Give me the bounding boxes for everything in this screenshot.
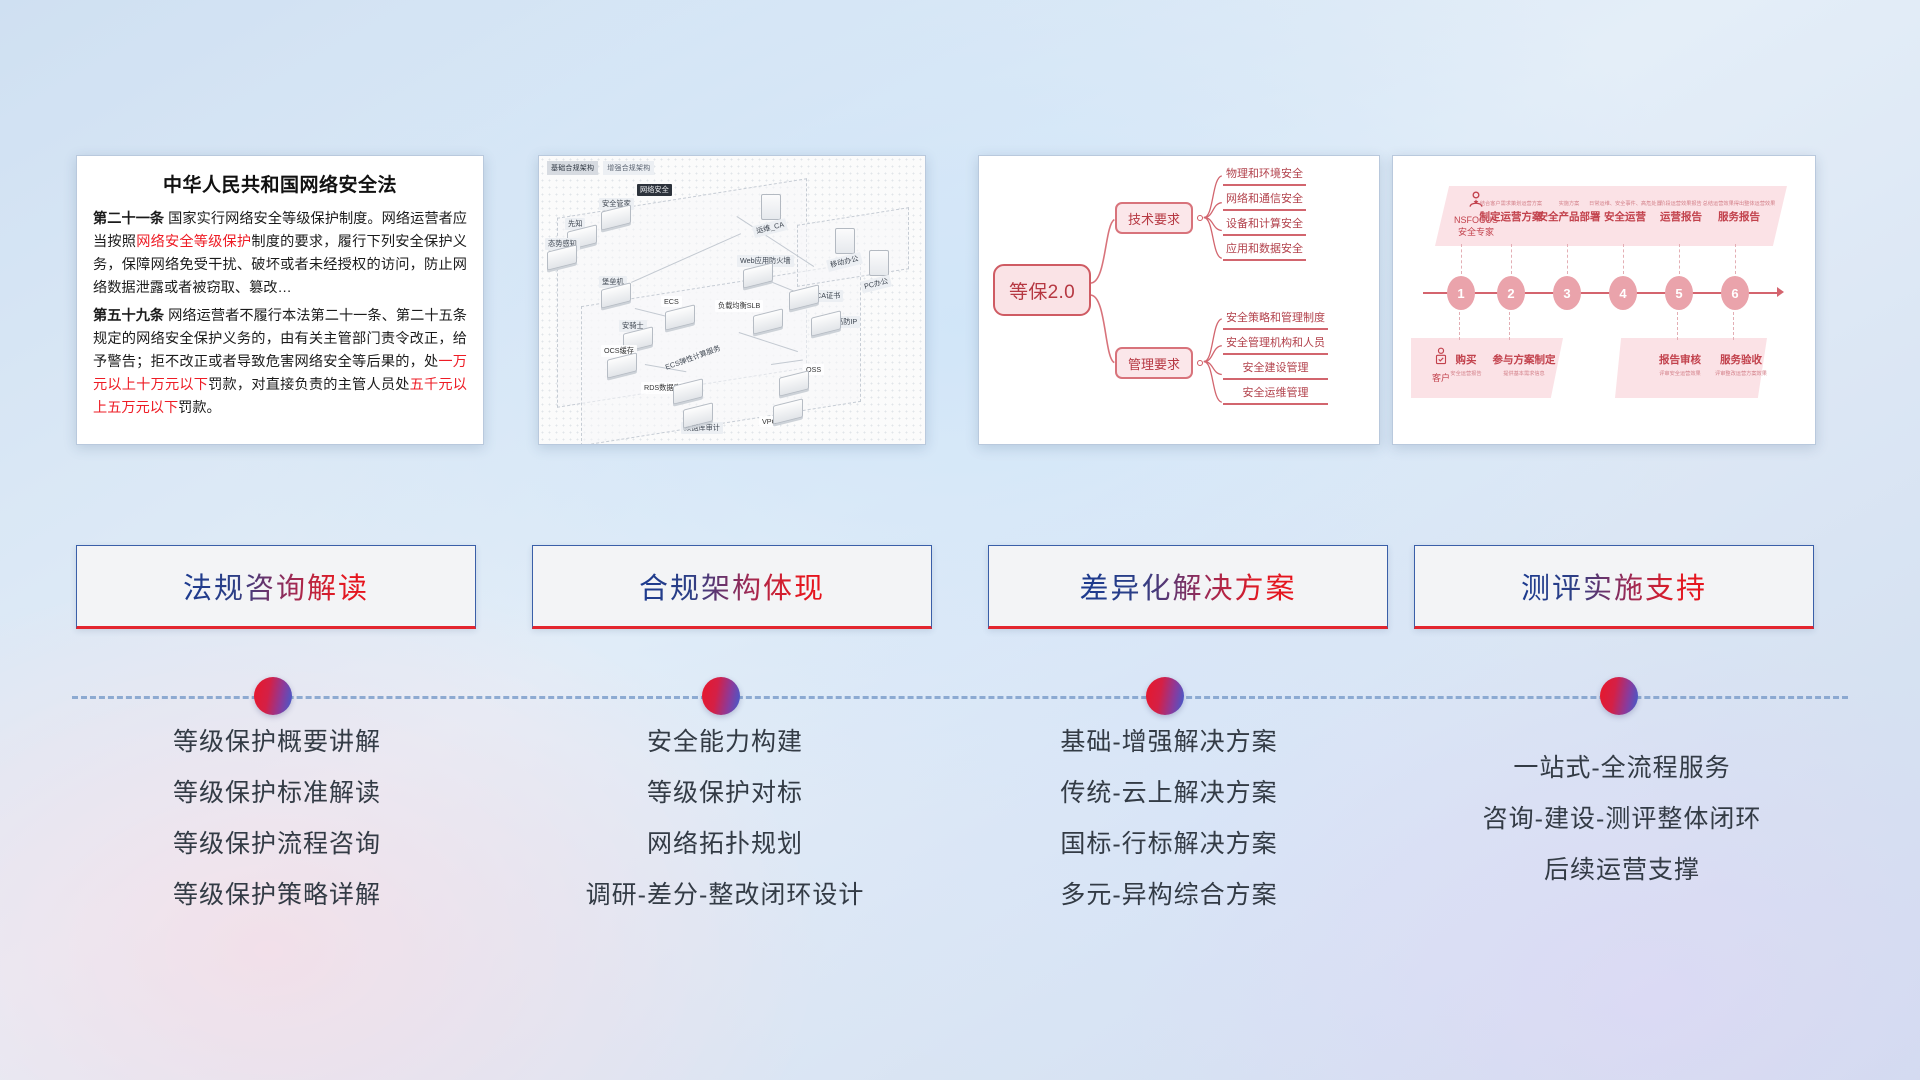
list-item: 等级保护对标 xyxy=(500,781,950,806)
timeline-marker-4[interactable] xyxy=(1600,677,1638,715)
timeline-step-bottom-3: 报告审核 评审安全运营效果 xyxy=(1647,352,1713,379)
list-item: 多元-异构综合方案 xyxy=(944,883,1394,908)
title-button-compliance-architecture[interactable]: 合规架构体现 xyxy=(532,545,932,629)
list-item: 咨询-建设-测评整体闭环 xyxy=(1392,807,1852,832)
expand-dot-icon[interactable] xyxy=(1197,215,1203,221)
node-db-audit: 数据库审计 xyxy=(683,406,713,425)
mindmap-leaf: 物理和环境安全 xyxy=(1223,164,1306,186)
timeline-arrow-icon xyxy=(1777,287,1784,297)
detail-column-2: 安全能力构建 等级保护对标 网络拓扑规划 调研-差分-整改闭环设计 xyxy=(500,730,950,934)
connector-line xyxy=(1459,312,1460,340)
step-title: 报告审核 xyxy=(1647,352,1713,367)
law-title: 中华人民共和国网络安全法 xyxy=(93,170,467,197)
list-item: 后续运营支撑 xyxy=(1392,858,1852,883)
timeline-node-4[interactable]: 4 xyxy=(1609,276,1637,310)
node-vpc: VPC xyxy=(773,402,803,421)
timeline-connector-row xyxy=(0,668,1920,728)
tab-enhanced-compliance[interactable]: 增强合规架构 xyxy=(603,161,654,175)
title-button-regulation-consulting[interactable]: 法规咨询解读 xyxy=(76,545,476,629)
node-ca-certificate: CA证书 xyxy=(789,288,819,307)
connector-line xyxy=(1461,244,1462,274)
node-ops-ca: 运维_CA xyxy=(761,194,781,220)
title-button-differentiated-solution[interactable]: 差异化解决方案 xyxy=(988,545,1388,629)
cube-icon xyxy=(779,370,809,396)
title-button-assessment-support[interactable]: 测评实施支持 xyxy=(1414,545,1814,629)
title-label: 测评实施支持 xyxy=(1521,565,1707,607)
title-button-row: 法规咨询解读 合规架构体现 差异化解决方案 测评实施支持 xyxy=(0,545,1920,645)
server-icon xyxy=(869,250,889,276)
connector-line xyxy=(1509,312,1510,340)
article-59-text-b: 罚款，对直接负责的主管人员处 xyxy=(208,377,409,393)
mindmap-root: 等保2.0 xyxy=(993,264,1091,316)
mindmap-leaf: 安全管理机构和人员 xyxy=(1223,333,1328,355)
title-label: 法规咨询解读 xyxy=(183,565,369,607)
mindmap-leaf: 应用和数据安全 xyxy=(1223,239,1306,261)
connector-line xyxy=(1733,312,1734,340)
timeline-node-6[interactable]: 6 xyxy=(1721,276,1749,310)
node-security-manager: 安全管家 xyxy=(601,208,631,227)
node-situation-awareness: 态势感知 xyxy=(547,248,577,267)
nsfocus-process-diagram: NSFOCUS 安全专家 客户 1 2 3 xyxy=(1393,156,1815,444)
dashed-timeline-line xyxy=(72,696,1848,699)
mindmap-branch-management[interactable]: 管理要求 xyxy=(1115,347,1193,379)
article-59-text-c: 罚款。 xyxy=(178,400,221,416)
timeline-marker-3[interactable] xyxy=(1146,677,1184,715)
timeline-step-top-6: 总结运营效果得出整体运营效果 服务报告 xyxy=(1701,200,1777,224)
node-ocs-cache: OCS缓存 xyxy=(607,356,637,375)
mindmap: 等保2.0 技术要求 物理和环境安全 网络和通信安全 设备和计算安全 应用和数据… xyxy=(979,156,1379,444)
node-mobile-office: 移动办公 xyxy=(835,228,855,254)
timeline-marker-1[interactable] xyxy=(254,677,292,715)
node-slb: 负载均衡SLB xyxy=(753,312,783,331)
list-item: 安全能力构建 xyxy=(500,730,950,755)
connector-line xyxy=(1623,244,1624,274)
node-bastion-host: 堡垒机 xyxy=(601,286,631,305)
mindmap-leaves-management: 安全策略和管理制度 安全管理机构和人员 安全建设管理 安全运维管理 xyxy=(1223,308,1328,408)
step-title: 服务报告 xyxy=(1701,209,1777,224)
list-item: 等级保护标准解读 xyxy=(52,781,502,806)
step-subtitle: 评审整改运营方案效果 xyxy=(1705,370,1777,377)
law-document: 中华人民共和国网络安全法 第二十一条 国家实行网络安全等级保护制度。网络运营者应… xyxy=(77,156,483,435)
node-ecs: ECS xyxy=(665,308,695,327)
step-subtitle: 提供基本需求信息 xyxy=(1485,370,1563,377)
timeline-step-bottom-4: 服务验收 评审整改运营方案效果 xyxy=(1705,352,1777,379)
node-waf: Web应用防火墙 xyxy=(743,266,773,285)
timeline-step-bottom-2: 参与方案制定 提供基本需求信息 xyxy=(1485,352,1563,379)
expand-dot-icon[interactable] xyxy=(1197,360,1203,366)
architecture-diagram: 基础合规架构 增强合规架构 网络安全 安全管家 xyxy=(539,156,925,444)
connector-line xyxy=(1679,244,1680,274)
detail-column-4: 一站式-全流程服务 咨询-建设-测评整体闭环 后续运营支撑 xyxy=(1392,730,1852,909)
list-item: 传统-云上解决方案 xyxy=(944,781,1394,806)
law-article-21: 第二十一条 国家实行网络安全等级保护制度。网络运营者应当按照网络安全等级保护制度… xyxy=(93,208,467,300)
expert-role: 安全专家 xyxy=(1445,225,1507,238)
detail-column-1: 等级保护概要讲解 等级保护标准解读 等级保护流程咨询 等级保护策略详解 xyxy=(52,730,502,934)
list-item: 基础-增强解决方案 xyxy=(944,730,1394,755)
node-label-network-security: 网络安全 xyxy=(637,184,672,196)
server-icon xyxy=(761,194,781,220)
server-icon xyxy=(835,228,855,254)
article-59-label: 第五十九条 xyxy=(93,308,164,324)
mindmap-leaf: 网络和通信安全 xyxy=(1223,189,1306,211)
architecture-tabs: 基础合规架构 增强合规架构 xyxy=(547,161,654,175)
node-anti-ddos-ip: 高防IP xyxy=(811,314,841,333)
mindmap-leaf: 设备和计算安全 xyxy=(1223,214,1306,236)
mindmap-leaf: 安全运维管理 xyxy=(1223,383,1328,405)
timeline-node-2[interactable]: 2 xyxy=(1497,276,1525,310)
mindmap-leaves-technical: 物理和环境安全 网络和通信安全 设备和计算安全 应用和数据安全 xyxy=(1223,164,1306,264)
detail-column-row: 等级保护概要讲解 等级保护标准解读 等级保护流程咨询 等级保护策略详解 安全能力… xyxy=(0,730,1920,1060)
article-21-label: 第二十一条 xyxy=(93,211,164,227)
list-item: 等级保护概要讲解 xyxy=(52,730,502,755)
card-nsfocus-timeline[interactable]: NSFOCUS 安全专家 客户 1 2 3 xyxy=(1392,155,1816,445)
mindmap-leaf: 安全建设管理 xyxy=(1223,358,1328,380)
image-card-row: 中华人民共和国网络安全法 第二十一条 国家实行网络安全等级保护制度。网络运营者应… xyxy=(0,0,1920,470)
cube-icon xyxy=(773,398,803,424)
step-subtitle: 评审安全运营效果 xyxy=(1647,370,1713,377)
detail-column-3: 基础-增强解决方案 传统-云上解决方案 国标-行标解决方案 多元-异构综合方案 xyxy=(944,730,1394,934)
step-subtitle: 安全运营报告 xyxy=(1441,370,1491,377)
timeline-marker-2[interactable] xyxy=(702,677,740,715)
node-rds-database: RDS数据库 xyxy=(673,382,703,401)
law-article-59: 第五十九条 网络运营者不履行本法第二十一条、第二十五条规定的网络安全保护义务的，… xyxy=(93,305,467,420)
card-compliance-architecture[interactable]: 基础合规架构 增强合规架构 网络安全 安全管家 xyxy=(538,155,926,445)
list-item: 等级保护策略详解 xyxy=(52,883,502,908)
tab-basic-compliance[interactable]: 基础合规架构 xyxy=(547,161,598,175)
timeline-node-3[interactable]: 3 xyxy=(1553,276,1581,310)
timeline-step-bottom-1: 购买 安全运营报告 xyxy=(1441,352,1491,379)
slide-root: 中华人民共和国网络安全法 第二十一条 国家实行网络安全等级保护制度。网络运营者应… xyxy=(0,0,1920,1080)
title-label: 合规架构体现 xyxy=(639,565,825,607)
list-item: 一站式-全流程服务 xyxy=(1392,756,1852,781)
node-oss: OSS xyxy=(779,374,809,393)
node-pc-office: PC办公 xyxy=(869,250,889,276)
cube-icon xyxy=(811,310,841,336)
card-mlps-mindmap[interactable]: 等保2.0 技术要求 物理和环境安全 网络和通信安全 设备和计算安全 应用和数据… xyxy=(978,155,1380,445)
list-item: 网络拓扑规划 xyxy=(500,832,950,857)
list-item: 国标-行标解决方案 xyxy=(944,832,1394,857)
step-subtitle: 总结运营效果得出整体运营效果 xyxy=(1701,200,1777,207)
article-21-highlight: 网络安全等级保护 xyxy=(136,234,251,250)
cube-icon xyxy=(665,304,695,330)
mindmap-branch-technical[interactable]: 技术要求 xyxy=(1115,202,1193,234)
connector-line xyxy=(1735,244,1736,274)
title-label: 差异化解决方案 xyxy=(1079,565,1296,607)
connector-line xyxy=(1677,312,1678,340)
mindmap-leaf: 安全策略和管理制度 xyxy=(1223,308,1328,330)
list-item: 调研-差分-整改闭环设计 xyxy=(500,883,950,908)
list-item: 等级保护流程咨询 xyxy=(52,832,502,857)
cube-icon xyxy=(789,284,819,310)
connector-line xyxy=(1567,244,1568,274)
step-title: 服务验收 xyxy=(1705,352,1777,367)
card-cybersecurity-law[interactable]: 中华人民共和国网络安全法 第二十一条 国家实行网络安全等级保护制度。网络运营者应… xyxy=(76,155,484,445)
timeline-node-5[interactable]: 5 xyxy=(1665,276,1693,310)
step-title: 参与方案制定 xyxy=(1485,352,1563,367)
step-title: 购买 xyxy=(1441,352,1491,367)
timeline-node-1[interactable]: 1 xyxy=(1447,276,1475,310)
cube-icon xyxy=(753,308,783,334)
connector-line xyxy=(1511,244,1512,274)
